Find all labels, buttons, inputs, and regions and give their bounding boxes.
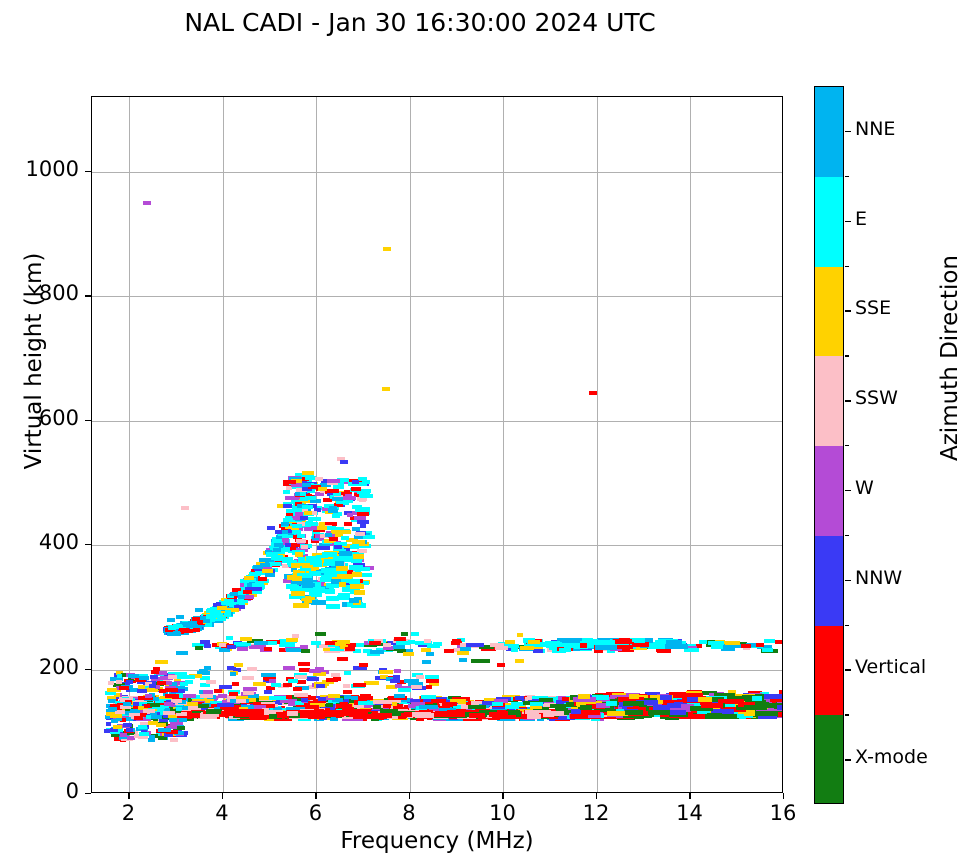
echo-pixel: [592, 640, 615, 645]
echo-pixel: [515, 696, 524, 700]
echo-pixel: [415, 713, 434, 718]
echo-pixel: [305, 522, 318, 526]
y-tick-mark: [85, 420, 91, 421]
echo-pixel: [137, 689, 146, 693]
echo-pixel: [134, 716, 143, 720]
echo-pixel: [113, 725, 122, 729]
echo-pixel: [481, 659, 490, 663]
echo-pixel: [286, 695, 292, 699]
ionogram-figure: NAL CADI - Jan 30 16:30:00 2024 UTC 2468…: [0, 0, 958, 857]
echo-pixel: [349, 598, 359, 603]
echo-pixel: [333, 556, 347, 561]
echo-pixel: [362, 573, 372, 577]
x-tick-label: 10: [472, 801, 532, 825]
colorbar-minor-tick: [845, 266, 849, 267]
echo-pixel: [230, 672, 236, 676]
echo-pixel: [240, 637, 252, 641]
echo-pixel: [253, 682, 266, 686]
echo-pixel: [352, 527, 359, 531]
echo-pixel: [311, 641, 320, 645]
echo-pixel: [281, 522, 290, 526]
echo-pixel: [354, 590, 365, 595]
colorbar-tick: [845, 490, 851, 491]
echo-pixel: [419, 705, 438, 709]
colorbar-segment-sse: [815, 267, 843, 357]
echo-pixel: [309, 571, 319, 576]
echo-pixel: [128, 674, 139, 678]
echo-pixel: [337, 657, 348, 661]
echo-pixel: [186, 713, 201, 718]
echo-pixel: [360, 489, 371, 493]
echo-pixel: [358, 701, 374, 705]
colorbar-label-w: W: [855, 477, 874, 499]
echo-pixel: [305, 496, 316, 500]
echo-pixel: [655, 640, 666, 645]
echo-pixel: [327, 526, 337, 530]
echo-pixel: [267, 526, 275, 530]
echo-pixel: [755, 711, 768, 716]
echo-pixel: [200, 694, 213, 698]
echo-pixel: [214, 689, 222, 693]
echo-pixel: [242, 676, 254, 680]
echo-pixel: [293, 687, 302, 691]
echo-pixel: [326, 596, 339, 601]
colorbar-segment-e: [815, 177, 843, 267]
echo-pixel: [164, 702, 173, 706]
echo-pixel: [107, 688, 117, 692]
echo-pixel: [490, 643, 504, 647]
echo-pixel: [139, 732, 149, 736]
echo-pixel: [168, 626, 176, 630]
echo-pixel: [158, 728, 171, 732]
echo-pixel: [195, 646, 202, 650]
colorbar-label-vertical: Vertical: [855, 656, 926, 678]
echo-pixel: [778, 712, 783, 717]
echo-pixel: [296, 539, 307, 543]
echo-pixel: [148, 721, 158, 725]
echo-pixel: [354, 516, 366, 520]
colorbar-tick: [845, 669, 851, 670]
echo-pixel: [422, 660, 430, 664]
echo-pixel: [352, 572, 362, 577]
echo-pixel: [163, 711, 175, 715]
echo-pixel: [145, 694, 152, 698]
echo-pixel: [335, 642, 346, 646]
echo-pixel: [143, 201, 151, 205]
echo-pixel: [301, 649, 310, 653]
echo-pixel: [283, 683, 291, 687]
echo-pixel: [421, 695, 435, 699]
echo-pixel: [657, 649, 671, 653]
echo-pixel: [432, 712, 448, 717]
y-tick-mark: [85, 295, 91, 296]
echo-pixel: [116, 680, 121, 684]
echo-pixel: [283, 666, 295, 670]
echo-pixel: [452, 639, 461, 643]
echo-pixel: [559, 648, 571, 652]
echo-pixel: [394, 669, 401, 673]
echo-pixel: [355, 532, 365, 536]
echo-pixel: [505, 640, 515, 644]
colorbar-tick: [845, 131, 851, 132]
x-tick-mark: [689, 793, 690, 799]
echo-pixel: [302, 505, 313, 509]
echo-pixel: [401, 632, 409, 636]
y-tick-label: 1000: [0, 157, 79, 181]
x-tick-label: 14: [659, 801, 719, 825]
echo-pixel: [264, 690, 272, 694]
echo-pixel: [313, 587, 325, 592]
echo-pixel: [254, 641, 268, 645]
echo-pixel: [339, 530, 351, 534]
echo-pixel: [394, 694, 405, 698]
y-tick-label: 0: [0, 779, 79, 803]
echo-pixel: [353, 683, 366, 687]
echo-pixel: [166, 681, 173, 685]
echo-pixel: [190, 621, 197, 625]
echo-pixel: [221, 601, 228, 605]
echo-pixel: [347, 513, 353, 517]
echo-pixel: [341, 536, 349, 540]
echo-pixel: [219, 643, 226, 647]
x-tick-label: 6: [285, 801, 345, 825]
echo-pixel: [253, 572, 260, 576]
echo-pixel: [325, 533, 332, 537]
echo-pixel: [508, 644, 519, 648]
echo-pixel: [382, 387, 390, 391]
echo-pixel: [292, 524, 303, 528]
echo-pixel: [701, 703, 723, 708]
echo-pixel: [328, 694, 340, 698]
echo-pixel: [193, 617, 200, 621]
echo-pixel: [283, 504, 292, 508]
echo-pixel: [315, 632, 326, 636]
echo-pixel: [221, 711, 241, 716]
echo-pixel: [468, 705, 486, 709]
echo-pixel: [319, 522, 325, 526]
echo-pixel: [625, 710, 643, 715]
echo-pixel: [331, 579, 339, 584]
echo-pixel: [511, 648, 519, 652]
echo-pixel: [398, 688, 411, 692]
echo-pixel: [155, 660, 168, 664]
echo-pixel: [151, 715, 162, 719]
x-tick-label: 16: [753, 801, 813, 825]
echo-pixel: [369, 641, 381, 645]
echo-pixel: [119, 686, 129, 690]
echo-pixel: [252, 583, 259, 587]
echo-pixel: [286, 638, 299, 642]
echo-pixel: [344, 695, 350, 699]
y-tick-mark: [85, 793, 91, 794]
echo-pixel: [355, 508, 367, 512]
echo-pixel: [316, 684, 325, 688]
echo-pixel: [199, 669, 208, 673]
echo-pixel: [338, 593, 350, 598]
echo-pixel: [291, 591, 305, 596]
x-tick-label: 12: [566, 801, 626, 825]
echo-pixel: [244, 576, 254, 580]
echo-pixel: [196, 620, 202, 624]
colorbar-tick: [845, 580, 851, 581]
echo-pixel: [764, 694, 783, 699]
colorbar-label-x-mode: X-mode: [855, 746, 928, 768]
page-title: NAL CADI - Jan 30 16:30:00 2024 UTC: [0, 8, 840, 37]
colorbar: [814, 86, 844, 804]
colorbar-tick: [845, 759, 851, 760]
colorbar-minor-tick: [845, 445, 849, 446]
echo-pixel: [344, 522, 352, 526]
echo-pixel: [370, 650, 384, 654]
echo-pixel: [369, 714, 387, 719]
echo-pixel: [139, 676, 149, 680]
x-tick-mark: [222, 793, 223, 799]
x-tick-mark: [783, 793, 784, 799]
echo-pixel: [138, 685, 145, 689]
colorbar-label: Azimuth Direction: [937, 208, 958, 508]
y-tick-label: 200: [0, 655, 79, 679]
echo-pixel: [520, 646, 534, 650]
echo-pixel: [311, 592, 322, 597]
echo-pixel: [744, 705, 767, 710]
y-tick-mark: [85, 669, 91, 670]
echo-pixel: [345, 647, 355, 651]
echo-pixel: [183, 694, 196, 698]
echo-pixel: [170, 738, 179, 742]
echo-pixel: [550, 704, 567, 708]
echo-pixel: [383, 643, 391, 647]
y-tick-label: 400: [0, 530, 79, 554]
echo-pixel: [315, 477, 323, 481]
echo-pixel: [173, 631, 181, 635]
y-tick-mark: [85, 544, 91, 545]
echo-pixel: [206, 709, 222, 714]
echo-pixel: [349, 565, 361, 570]
echo-pixel: [108, 707, 117, 711]
echo-pixel: [433, 642, 442, 646]
x-tick-mark: [128, 793, 129, 799]
colorbar-minor-tick: [845, 355, 849, 356]
echo-pixel: [176, 707, 182, 711]
colorbar-tick: [845, 310, 851, 311]
x-tick-label: 2: [98, 801, 158, 825]
echo-pixel: [394, 637, 406, 641]
echo-pixel: [331, 673, 339, 677]
echo-pixel: [234, 663, 243, 667]
scatter-data-layer: [92, 97, 782, 792]
echo-pixel: [285, 543, 291, 547]
x-tick-mark: [315, 793, 316, 799]
echo-pixel: [268, 641, 278, 645]
echo-pixel: [165, 694, 178, 698]
echo-pixel: [120, 733, 127, 737]
x-tick-label: 4: [192, 801, 252, 825]
echo-pixel: [245, 595, 254, 599]
echo-pixel: [181, 506, 189, 510]
x-tick-mark: [596, 793, 597, 799]
echo-pixel: [325, 589, 335, 594]
echo-pixel: [582, 638, 592, 643]
echo-pixel: [777, 705, 783, 710]
echo-pixel: [653, 705, 670, 710]
echo-pixel: [269, 679, 276, 683]
echo-pixel: [144, 704, 150, 708]
echo-pixel: [326, 703, 333, 707]
colorbar-tick: [845, 400, 851, 401]
echo-pixel: [143, 709, 155, 713]
echo-pixel: [318, 487, 327, 491]
echo-pixel: [344, 671, 350, 675]
echo-pixel: [185, 680, 193, 684]
echo-pixel: [301, 698, 308, 702]
echo-pixel: [426, 679, 439, 683]
echo-pixel: [217, 606, 227, 610]
echo-pixel: [198, 704, 209, 708]
echo-pixel: [527, 714, 540, 719]
echo-pixel: [660, 695, 672, 700]
echo-pixel: [123, 723, 131, 727]
echo-pixel: [243, 691, 254, 695]
echo-pixel: [762, 648, 773, 652]
echo-pixel: [581, 710, 600, 715]
echo-pixel: [243, 590, 252, 594]
echo-pixel: [528, 640, 540, 644]
echo-pixel: [218, 694, 226, 698]
echo-pixel: [265, 573, 275, 577]
y-tick-mark: [85, 171, 91, 172]
echo-pixel: [237, 647, 249, 651]
echo-pixel: [176, 651, 188, 655]
echo-pixel: [383, 704, 391, 708]
echo-pixel: [336, 566, 347, 571]
echo-pixel: [426, 685, 432, 689]
echo-pixel: [292, 576, 303, 581]
echo-pixel: [357, 520, 370, 524]
echo-pixel: [284, 557, 293, 562]
echo-pixel: [337, 574, 352, 579]
plot-area: [91, 96, 783, 793]
echo-pixel: [352, 540, 365, 544]
echo-pixel: [253, 565, 263, 569]
echo-pixel: [613, 639, 633, 644]
colorbar-label-nnw: NNW: [855, 567, 902, 589]
echo-pixel: [229, 692, 239, 696]
echo-pixel: [364, 681, 378, 685]
colorbar-segment-vertical: [815, 626, 843, 716]
echo-pixel: [285, 496, 295, 500]
echo-pixel: [184, 675, 195, 679]
echo-pixel: [425, 675, 439, 679]
echo-pixel: [326, 604, 340, 609]
echo-pixel: [329, 506, 336, 510]
x-tick-mark: [502, 793, 503, 799]
echo-pixel: [317, 546, 330, 550]
echo-pixel: [321, 568, 333, 573]
echo-pixel: [343, 496, 356, 500]
echo-pixel: [356, 643, 364, 647]
echo-pixel: [232, 682, 239, 686]
colorbar-segment-nnw: [815, 536, 843, 626]
echo-pixel: [352, 480, 359, 484]
echo-pixel: [711, 645, 723, 649]
colorbar-label-ssw: SSW: [855, 387, 898, 409]
echo-pixel: [227, 645, 236, 649]
colorbar-minor-tick: [845, 714, 849, 715]
echo-pixel: [339, 551, 352, 556]
echo-pixel: [176, 615, 184, 619]
echo-pixel: [492, 702, 503, 706]
echo-pixel: [282, 538, 289, 542]
echo-pixel: [775, 640, 783, 644]
echo-pixel: [379, 670, 394, 674]
echo-pixel: [711, 714, 737, 719]
echo-pixel: [383, 247, 391, 251]
echo-pixel: [305, 579, 313, 584]
x-tick-label: 8: [379, 801, 439, 825]
echo-pixel: [126, 728, 132, 732]
echo-pixel: [752, 696, 762, 701]
echo-pixel: [283, 490, 290, 494]
echo-pixel: [149, 684, 157, 688]
colorbar-label-nne: NNE: [855, 118, 895, 140]
echo-pixel: [310, 560, 321, 565]
echo-pixel: [304, 511, 312, 515]
echo-pixel: [203, 690, 213, 694]
echo-pixel: [665, 644, 688, 649]
echo-pixel: [327, 479, 340, 483]
echo-pixel: [293, 603, 308, 608]
colorbar-segment-nne: [815, 87, 843, 177]
echo-pixel: [411, 685, 422, 689]
y-axis-label: Virtual height (km): [21, 211, 47, 511]
echo-pixel: [426, 652, 434, 656]
echo-pixel: [150, 675, 158, 679]
echo-pixel: [334, 545, 342, 549]
echo-pixel: [249, 698, 257, 702]
echo-pixel: [298, 662, 309, 666]
echo-pixel: [283, 480, 296, 484]
echo-pixel: [153, 697, 159, 701]
echo-pixel: [287, 711, 297, 716]
echo-pixel: [360, 694, 370, 698]
echo-pixel: [459, 658, 467, 662]
echo-pixel: [606, 701, 616, 706]
echo-pixel: [340, 702, 348, 706]
echo-pixel: [687, 697, 697, 702]
echo-pixel: [741, 644, 751, 648]
echo-pixel: [324, 710, 345, 715]
echo-pixel: [301, 545, 308, 549]
echo-pixel: [343, 690, 352, 694]
echo-pixel: [286, 584, 297, 589]
echo-pixel: [176, 712, 188, 716]
echo-pixel: [444, 649, 455, 653]
colorbar-minor-tick: [845, 535, 849, 536]
echo-pixel: [117, 674, 122, 678]
echo-pixel: [396, 641, 410, 645]
echo-pixel: [165, 688, 178, 692]
echo-pixel: [300, 516, 308, 520]
echo-pixel: [294, 693, 308, 697]
colorbar-segment-w: [815, 446, 843, 536]
echo-pixel: [309, 669, 321, 673]
echo-pixel: [724, 644, 741, 648]
echo-pixel: [349, 712, 369, 717]
echo-pixel: [149, 735, 155, 739]
echo-pixel: [311, 600, 326, 605]
echo-pixel: [225, 610, 232, 614]
echo-pixel: [329, 537, 338, 541]
